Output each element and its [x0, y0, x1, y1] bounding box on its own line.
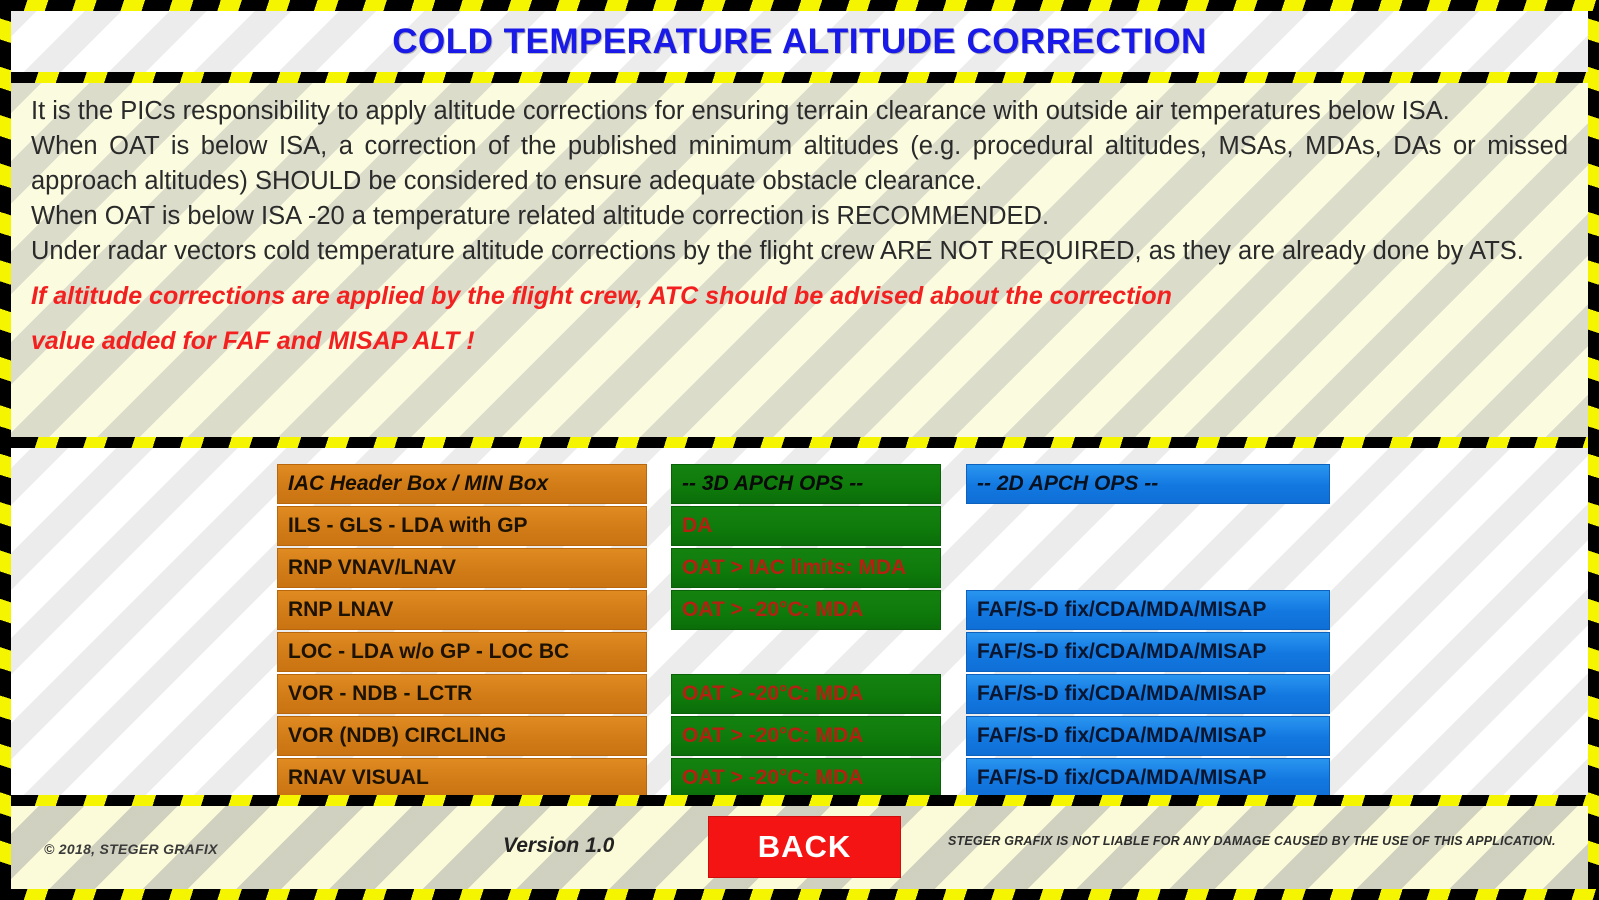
cell-2d-ops: FAF/S-D fix/CDA/MDA/MISAP [966, 758, 1330, 795]
hazard-tape-top [0, 0, 1599, 11]
table-row: RNP VNAV/LNAV OAT > IAC limits: MDA [277, 548, 1337, 588]
content-column: COLD TEMPERATURE ALTITUDE CORRECTION It … [11, 11, 1588, 889]
table-row: ILS - GLS - LDA with GP DA [277, 506, 1337, 546]
cell-3d-ops: DA [671, 506, 941, 546]
cell-2d-ops: FAF/S-D fix/CDA/MDA/MISAP [966, 674, 1330, 714]
hazard-tape-title-divider [11, 72, 1588, 83]
table-row: VOR - NDB - LCTR OAT > -20°C: MDA FAF/S-… [277, 674, 1337, 714]
table-header-3d-ops: -- 3D APCH OPS -- [671, 464, 941, 504]
cell-approach: VOR (NDB) CIRCLING [277, 716, 647, 756]
guidance-text-section: It is the PICs responsibility to apply a… [11, 83, 1588, 437]
back-button[interactable]: BACK [708, 816, 901, 878]
correction-table: IAC Header Box / MIN Box -- 3D APCH OPS … [277, 464, 1337, 795]
table-header-approach: IAC Header Box / MIN Box [277, 464, 647, 504]
cell-approach: LOC - LDA w/o GP - LOC BC [277, 632, 647, 672]
table-header-row: IAC Header Box / MIN Box -- 3D APCH OPS … [277, 464, 1337, 504]
table-row: RNAV VISUAL OAT > -20°C: MDA FAF/S-D fix… [277, 758, 1337, 795]
cell-approach: VOR - NDB - LCTR [277, 674, 647, 714]
cell-3d-ops: OAT > -20°C: MDA [671, 758, 941, 795]
table-header-2d-ops: -- 2D APCH OPS -- [966, 464, 1330, 504]
page-title: COLD TEMPERATURE ALTITUDE CORRECTION [392, 22, 1207, 62]
table-row: LOC - LDA w/o GP - LOC BC FAF/S-D fix/CD… [277, 632, 1337, 672]
cell-3d-ops: OAT > -20°C: MDA [671, 674, 941, 714]
cell-3d-ops: OAT > IAC limits: MDA [671, 548, 941, 588]
cell-approach: RNP LNAV [277, 590, 647, 630]
cell-3d-ops: OAT > -20°C: MDA [671, 590, 941, 630]
disclaimer-text: STEGER GRAFIX IS NOT LIABLE FOR ANY DAMA… [948, 834, 1568, 849]
hazard-tape-right [1588, 11, 1599, 889]
table-row: VOR (NDB) CIRCLING OAT > -20°C: MDA FAF/… [277, 716, 1337, 756]
hazard-tape-footer-divider [11, 795, 1588, 806]
warning-text-line-1: If altitude corrections are applied by t… [31, 269, 1568, 314]
guidance-paragraph-3: When OAT is below ISA -20 a temperature … [31, 199, 1568, 234]
hazard-tape-left [0, 11, 11, 889]
correction-table-section: IAC Header Box / MIN Box -- 3D APCH OPS … [11, 448, 1588, 795]
cell-approach: RNP VNAV/LNAV [277, 548, 647, 588]
hazard-tape-table-divider [11, 437, 1588, 448]
back-button-label: BACK [758, 829, 852, 865]
guidance-paragraph-1: It is the PICs responsibility to apply a… [31, 94, 1568, 129]
cell-approach: RNAV VISUAL [277, 758, 647, 795]
guidance-paragraph-4: Under radar vectors cold temperature alt… [31, 234, 1568, 269]
warning-text-line-2: value added for FAF and MISAP ALT ! [31, 314, 1568, 359]
cell-2d-ops-empty [966, 548, 1330, 588]
cell-approach: ILS - GLS - LDA with GP [277, 506, 647, 546]
title-banner: COLD TEMPERATURE ALTITUDE CORRECTION [11, 11, 1588, 72]
cell-2d-ops-empty [966, 506, 1330, 546]
table-row: RNP LNAV OAT > -20°C: MDA FAF/S-D fix/CD… [277, 590, 1337, 630]
footer-bar: © 2018, STEGER GRAFIX Version 1.0 BACK S… [11, 806, 1588, 889]
cell-3d-ops: OAT > -20°C: MDA [671, 716, 941, 756]
copyright-text: © 2018, STEGER GRAFIX [44, 841, 218, 857]
version-label: Version 1.0 [503, 834, 614, 858]
window-body: COLD TEMPERATURE ALTITUDE CORRECTION It … [0, 11, 1599, 889]
cell-3d-ops-empty [671, 632, 941, 672]
cell-2d-ops: FAF/S-D fix/CDA/MDA/MISAP [966, 590, 1330, 630]
cell-2d-ops: FAF/S-D fix/CDA/MDA/MISAP [966, 716, 1330, 756]
guidance-paragraph-2: When OAT is below ISA, a correction of t… [31, 129, 1568, 199]
hazard-tape-bottom [0, 889, 1599, 900]
application-window: COLD TEMPERATURE ALTITUDE CORRECTION It … [0, 0, 1599, 900]
cell-2d-ops: FAF/S-D fix/CDA/MDA/MISAP [966, 632, 1330, 672]
